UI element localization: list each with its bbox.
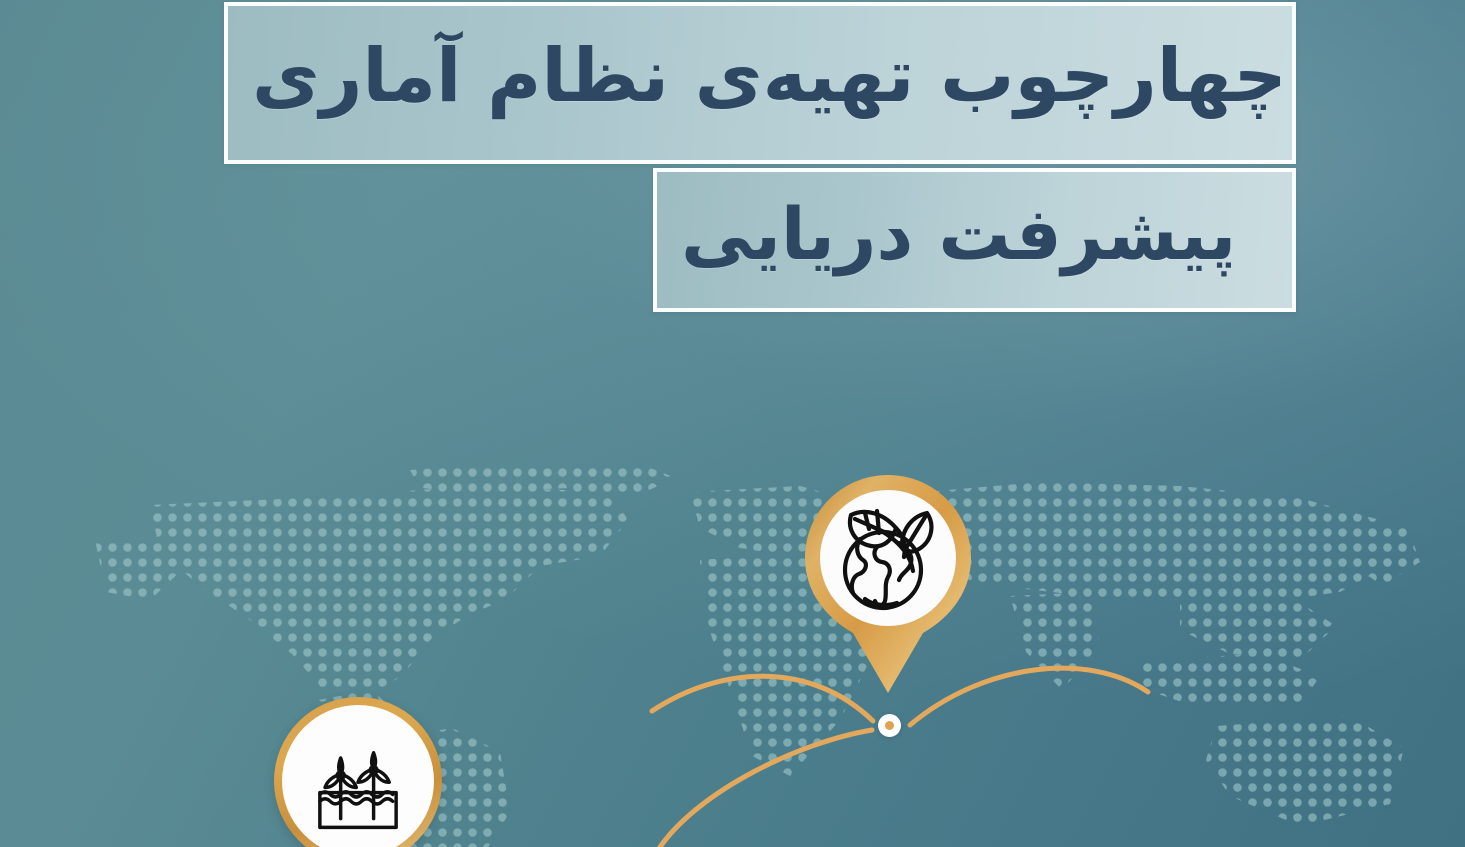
offshore-wind-turbines-icon [306,732,410,836]
route-hub-node [878,714,901,737]
arc-southwest [660,730,872,847]
title-line-1-text: چهارچوب تهیه‌ی نظام آماری [252,39,1287,113]
map-pin-globe-leaves [803,473,973,695]
offshore-wind-badge [274,697,442,847]
offshore-wind-badge-disc [282,705,434,847]
route-hub-core [885,721,894,730]
title-box-line-2: پیشرفت دریایی [653,168,1296,312]
title-line-2-text: پیشرفت دریایی [681,198,1236,270]
title-box-line-1: چهارچوب تهیه‌ی نظام آماری [224,2,1296,164]
slide-canvas: چهارچوب تهیه‌ی نظام آماری پیشرفت دریایی [0,0,1465,847]
